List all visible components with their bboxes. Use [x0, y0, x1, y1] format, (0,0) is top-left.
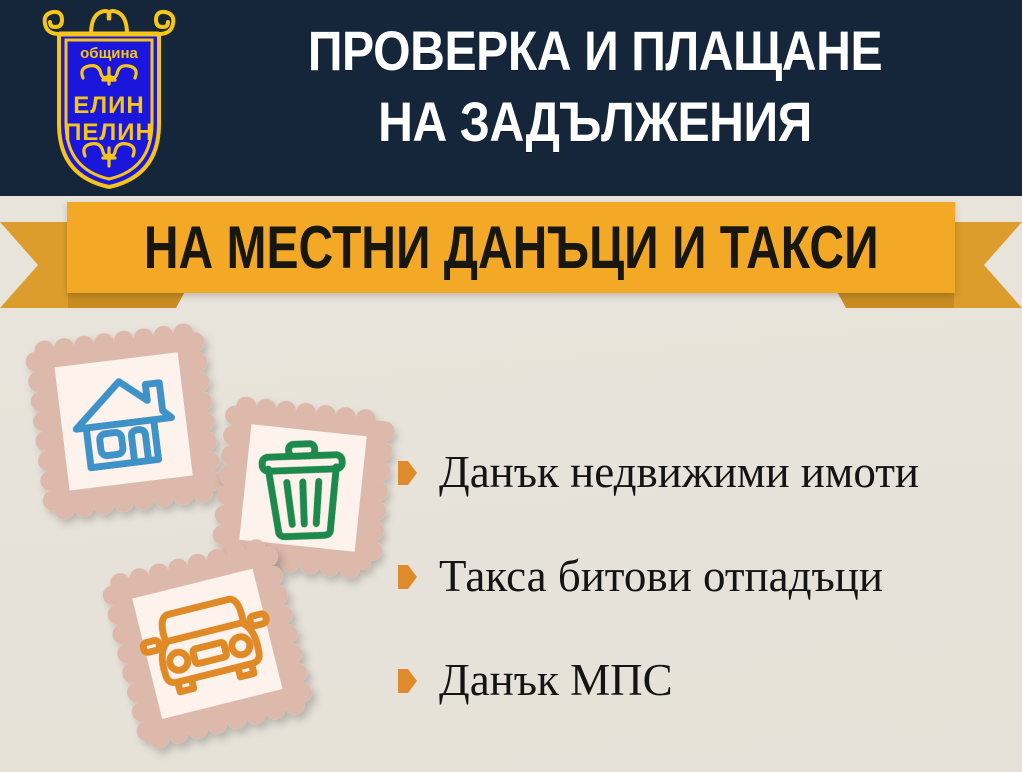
- ribbon-main-panel: НА МЕСТНИ ДАНЪЦИ И ТАКСИ: [67, 202, 955, 293]
- arrow-bullet-icon: [398, 565, 417, 589]
- tax-type-list: Данък недвижими имоти Такса битови отпад…: [398, 420, 1014, 732]
- stamp-card-vehicle: [96, 531, 326, 761]
- ribbon-subtitle: НА МЕСТНИ ДАНЪЦИ И ТАКСИ: [144, 218, 879, 278]
- arrow-bullet-icon: [398, 461, 417, 485]
- list-item-label: Данък недвижими имоти: [439, 448, 919, 497]
- poster-canvas: ПРОВЕРКА И ПЛАЩАНЕ НА ЗАДЪЛЖЕНИЯ община …: [0, 0, 1022, 772]
- page-title: ПРОВЕРКА И ПЛАЩАНЕ НА ЗАДЪЛЖЕНИЯ: [238, 16, 952, 157]
- trash-bin-icon: [261, 443, 344, 538]
- list-item-label: Данък МПС: [439, 656, 673, 705]
- list-item-vehicle-tax[interactable]: Данък МПС: [398, 628, 1014, 732]
- crest-name-line2: ПЕЛИН: [64, 119, 154, 146]
- list-item-waste-fee[interactable]: Такса битови отпадъци: [398, 524, 1014, 628]
- municipality-crest-logo: община ЕЛИН ПЕЛИН: [33, 6, 185, 191]
- list-item-label: Такса битови отпадъци: [439, 552, 883, 601]
- crest-name-line1: ЕЛИН: [73, 92, 144, 119]
- list-item-property-tax[interactable]: Данък недвижими имоти: [398, 420, 1014, 524]
- crest-municipality-word: община: [80, 45, 138, 62]
- ribbon-banner: НА МЕСТНИ ДАНЪЦИ И ТАКСИ: [0, 196, 1022, 316]
- arrow-bullet-icon: [398, 669, 417, 693]
